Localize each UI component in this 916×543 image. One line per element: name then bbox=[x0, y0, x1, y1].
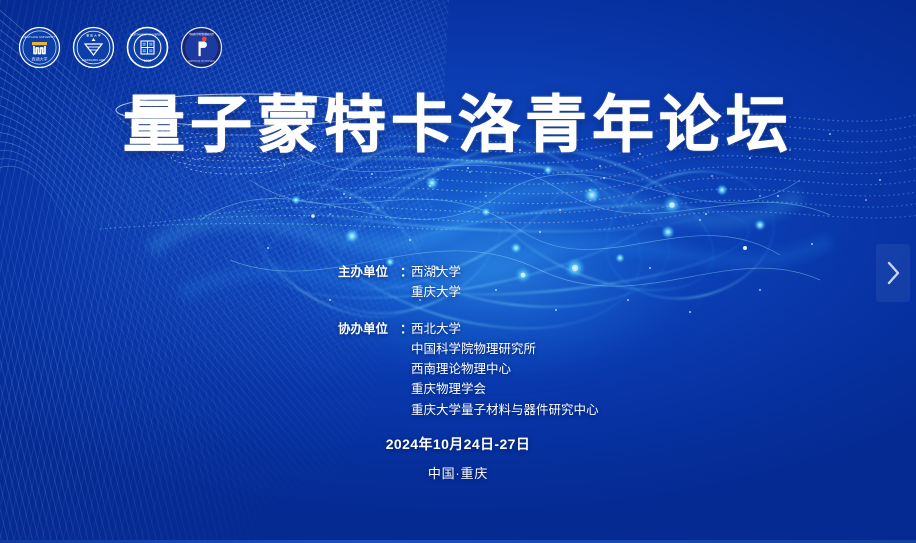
svg-text:中国科学院物理研究所: 中国科学院物理研究所 bbox=[189, 32, 215, 36]
event-date-location: 2024年10月24日-27日 中国·重庆 bbox=[0, 434, 916, 482]
coorganizer-item: 中国科学院物理研究所 bbox=[411, 339, 599, 359]
svg-text:CHONGQING UNIV: CHONGQING UNIV bbox=[82, 58, 105, 62]
conference-banner: WESTLAKE UNIVERSITY 西湖大学 重 庆 大 学 CHONGQI… bbox=[0, 0, 916, 543]
host-organizer-item: 西湖大学 bbox=[411, 262, 461, 282]
svg-text:WESTLAKE UNIVERSITY: WESTLAKE UNIVERSITY bbox=[22, 35, 57, 39]
svg-text:西湖大学: 西湖大学 bbox=[32, 56, 48, 62]
coorganizer-item: 重庆大学量子材料与器件研究中心 bbox=[411, 400, 599, 420]
westlake-university-logo: WESTLAKE UNIVERSITY 西湖大学 bbox=[18, 26, 61, 69]
svg-text:INSTITUTE OF PHYSICS: INSTITUTE OF PHYSICS bbox=[188, 61, 215, 63]
svg-text:NORTHWEST UNIVERSITY: NORTHWEST UNIVERSITY bbox=[130, 33, 164, 37]
carousel-next-button[interactable] bbox=[876, 244, 910, 302]
host-organizer-values: 西湖大学 重庆大学 bbox=[411, 262, 461, 303]
organizer-info: 主办单位 ： 西湖大学 重庆大学 协办单位 ： 西北大学 中国科学院物理研究所 … bbox=[338, 262, 599, 420]
northwest-university-logo: NORTHWEST UNIVERSITY 1902 bbox=[126, 26, 169, 69]
coorganizer-label: 协办单位 bbox=[338, 319, 400, 339]
svg-text:重 庆 大 学: 重 庆 大 学 bbox=[86, 33, 101, 38]
svg-text:1902: 1902 bbox=[144, 59, 152, 63]
institute-of-physics-cas-logo: 中国科学院物理研究所 INSTITUTE OF PHYSICS bbox=[180, 26, 223, 69]
coorganizer-values: 西北大学 中国科学院物理研究所 西南理论物理中心 重庆物理学会 重庆大学量子材料… bbox=[411, 319, 599, 420]
coorganizer-item: 西南理论物理中心 bbox=[411, 359, 599, 379]
coorganizer-group: 协办单位 ： 西北大学 中国科学院物理研究所 西南理论物理中心 重庆物理学会 重… bbox=[338, 319, 599, 420]
organizer-logo-row: WESTLAKE UNIVERSITY 西湖大学 重 庆 大 学 CHONGQI… bbox=[18, 26, 223, 69]
coorganizer-item: 重庆物理学会 bbox=[411, 379, 599, 399]
chevron-right-icon bbox=[886, 261, 901, 285]
host-organizer-label: 主办单位 bbox=[338, 262, 400, 282]
event-date: 2024年10月24日-27日 bbox=[0, 434, 916, 454]
coorganizer-item: 西北大学 bbox=[411, 319, 599, 339]
host-organizer-group: 主办单位 ： 西湖大学 重庆大学 bbox=[338, 262, 599, 303]
page-title: 量子蒙特卡洛青年论坛 bbox=[0, 92, 916, 159]
coorganizer-colon: ： bbox=[400, 319, 411, 339]
forum-title-text: 量子蒙特卡洛青年论坛 bbox=[123, 92, 793, 159]
host-organizer-colon: ： bbox=[400, 262, 411, 282]
event-location: 中国·重庆 bbox=[0, 463, 916, 482]
host-organizer-item: 重庆大学 bbox=[411, 282, 461, 302]
chongqing-university-logo: 重 庆 大 学 CHONGQING UNIV bbox=[72, 26, 115, 69]
